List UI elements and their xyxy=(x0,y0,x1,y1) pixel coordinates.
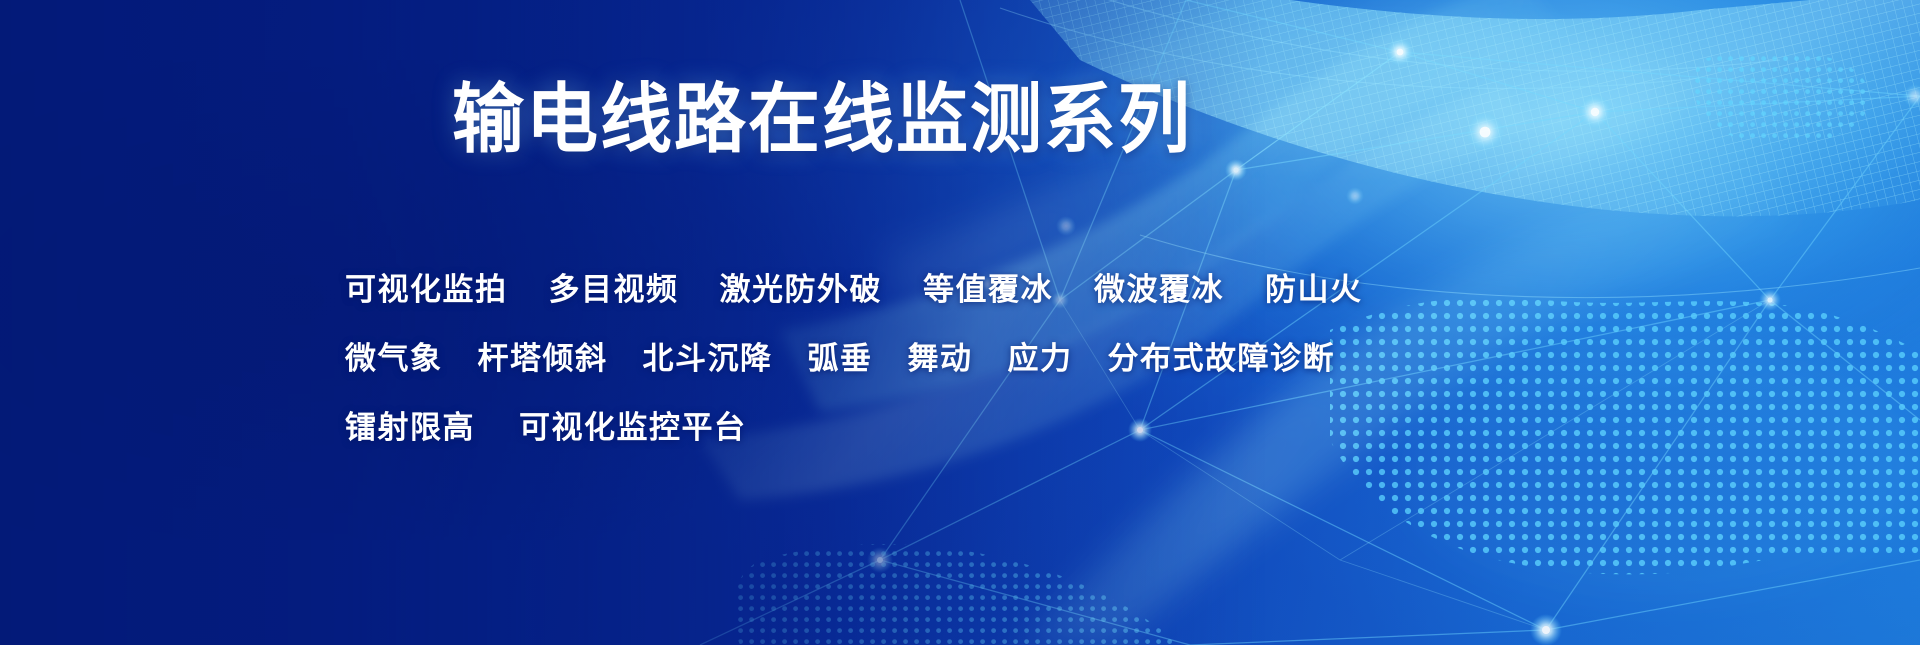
product-tag-row-2: 微气象 杆塔倾斜 北斗沉降 弧垂 舞动 应力 分布式故障诊断 xyxy=(345,321,1585,390)
product-tag-list: 可视化监拍 多目视频 激光防外破 等值覆冰 微波覆冰 防山火 微气象 杆塔倾斜 … xyxy=(345,252,1585,459)
tag-micro-meteorology[interactable]: 微气象 xyxy=(345,333,443,378)
tag-tower-tilt[interactable]: 杆塔倾斜 xyxy=(478,333,608,378)
tag-equivalent-icing[interactable]: 等值覆冰 xyxy=(923,264,1053,309)
tag-visual-monitoring-platform[interactable]: 可视化监控平台 xyxy=(519,402,747,447)
tag-galloping[interactable]: 舞动 xyxy=(908,333,973,378)
tag-multi-lens-video[interactable]: 多目视频 xyxy=(549,264,679,309)
tag-laser-external-damage-prevention[interactable]: 激光防外破 xyxy=(720,264,883,309)
tag-laser-height-limit[interactable]: 镭射限高 xyxy=(345,402,475,447)
tag-wildfire-prevention[interactable]: 防山火 xyxy=(1265,264,1363,309)
banner-content: 输电线路在线监测系列 可视化监拍 多目视频 激光防外破 等值覆冰 微波覆冰 防山… xyxy=(0,0,1920,645)
tag-stress[interactable]: 应力 xyxy=(1008,333,1073,378)
product-tag-row-1: 可视化监拍 多目视频 激光防外破 等值覆冰 微波覆冰 防山火 xyxy=(345,252,1585,321)
tag-distributed-fault-diagnosis[interactable]: 分布式故障诊断 xyxy=(1108,333,1336,378)
hero-banner: 输电线路在线监测系列 可视化监拍 多目视频 激光防外破 等值覆冰 微波覆冰 防山… xyxy=(0,0,1920,645)
tag-microwave-icing[interactable]: 微波覆冰 xyxy=(1094,264,1224,309)
tag-beidou-settlement[interactable]: 北斗沉降 xyxy=(643,333,773,378)
product-tag-row-3: 镭射限高 可视化监控平台 xyxy=(345,390,1585,459)
banner-headline: 输电线路在线监测系列 xyxy=(452,82,1192,158)
tag-sag[interactable]: 弧垂 xyxy=(808,333,873,378)
tag-visual-monitoring-capture[interactable]: 可视化监拍 xyxy=(345,264,508,309)
